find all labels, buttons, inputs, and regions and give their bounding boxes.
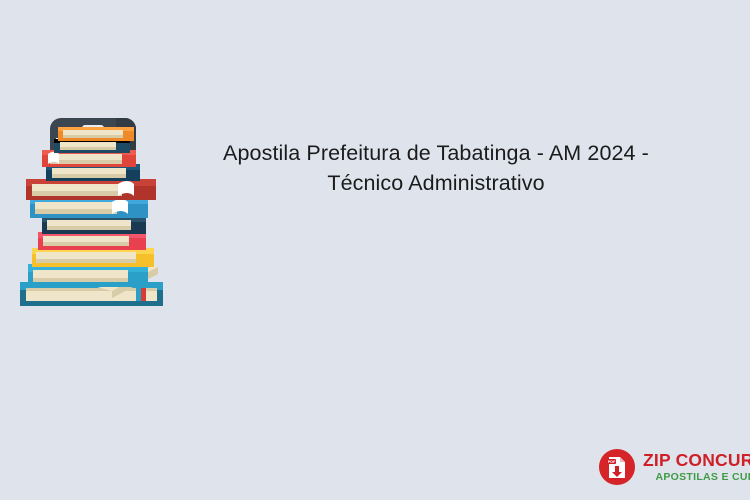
stack-of-books-with-smartphone-illustration	[8, 112, 178, 317]
brand-wordmark: ZIP CONCURSOS APOSTILAS E CURSOS	[643, 452, 750, 483]
page-title: Apostila Prefeitura de Tabatinga - AM 20…	[186, 138, 686, 198]
product-title-line-1: Apostila Prefeitura de Tabatinga - AM 20…	[223, 141, 649, 165]
book-darkteal-thin	[54, 139, 130, 153]
book-orange-top	[58, 127, 134, 141]
brand-logo: PDF ZIP CONCURSOS APOSTILAS E CURSOS	[598, 448, 750, 486]
book-stack	[20, 127, 163, 306]
book-navy-mid	[42, 216, 146, 234]
book-red-pink	[38, 232, 146, 250]
svg-text:PDF: PDF	[608, 460, 616, 464]
book-blue	[30, 197, 148, 218]
book-yellow	[32, 248, 154, 267]
product-banner: Apostila Prefeitura de Tabatinga - AM 20…	[0, 0, 750, 500]
book-darkred	[26, 179, 156, 200]
brand-tagline: APOSTILAS E CURSOS	[655, 472, 750, 483]
brand-name: ZIP CONCURSOS	[643, 452, 750, 470]
pdf-download-icon: PDF	[598, 448, 636, 486]
product-title-line-2: Técnico Administrativo	[327, 171, 544, 195]
